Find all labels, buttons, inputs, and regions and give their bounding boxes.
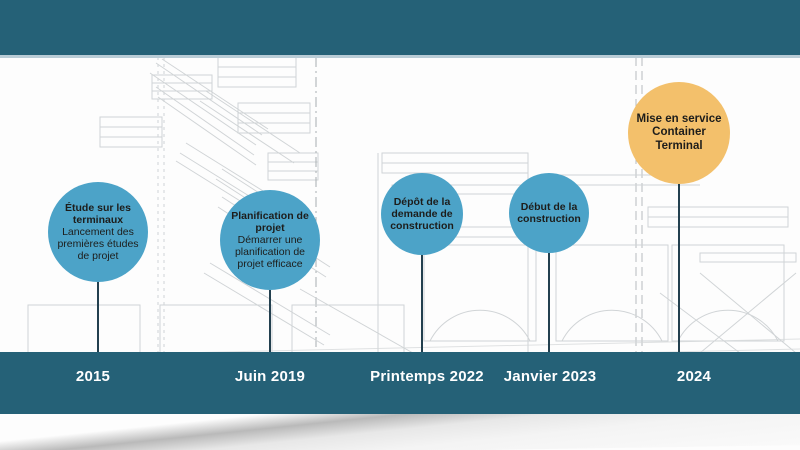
- timeline-date-label: 2024: [677, 368, 711, 385]
- milestone-bubble-mise-en-service[interactable]: Mise en service Container Terminal: [628, 82, 730, 184]
- milestone-stem-etude-terminaux: [97, 282, 99, 354]
- milestone-bubble-etude-terminaux[interactable]: Étude sur les terminauxLancement des pre…: [48, 182, 148, 282]
- title-bar: [0, 0, 800, 55]
- timeline-date-label: Juin 2019: [235, 368, 305, 385]
- milestone-subtext: Lancement des premières études de projet: [53, 226, 143, 263]
- milestone-heading: Étude sur les terminaux: [53, 202, 143, 226]
- milestone-heading: Début de la construction: [514, 201, 584, 225]
- milestone-bubble-planification-projet[interactable]: Planification de projetDémarrer une plan…: [220, 190, 320, 290]
- milestone-stem-planification-projet: [269, 290, 271, 354]
- milestone-text-mise-en-service: Mise en service Container Terminal: [628, 113, 730, 153]
- timeline-date-label: 2015: [76, 368, 110, 385]
- title-divider: [0, 55, 800, 58]
- slide-root: Étapes importantes Container Terminal Ét…: [0, 0, 800, 450]
- milestone-bubble-debut-construction[interactable]: Début de la construction: [509, 173, 589, 253]
- milestone-heading: Mise en service Container Terminal: [633, 113, 725, 153]
- milestone-text-etude-terminaux: Étude sur les terminauxLancement des pre…: [48, 202, 148, 263]
- milestone-bubble-depot-demande-construction[interactable]: Dépôt de la demande de construction: [381, 173, 463, 255]
- milestone-stem-debut-construction: [548, 253, 550, 354]
- milestone-text-debut-construction: Début de la construction: [509, 201, 589, 225]
- milestone-subtext: Démarrer une planification de projet eff…: [225, 234, 315, 271]
- timeline-date-label: Printemps 2022: [370, 368, 484, 385]
- milestone-heading: Dépôt de la demande de construction: [386, 196, 458, 233]
- milestone-stem-mise-en-service: [678, 184, 680, 354]
- timeline-date-label: Janvier 2023: [504, 368, 596, 385]
- milestone-text-depot-demande-construction: Dépôt de la demande de construction: [381, 196, 463, 233]
- milestone-text-planification-projet: Planification de projetDémarrer une plan…: [220, 210, 320, 271]
- milestone-heading: Planification de projet: [225, 210, 315, 234]
- milestone-stem-depot-demande-construction: [421, 255, 423, 354]
